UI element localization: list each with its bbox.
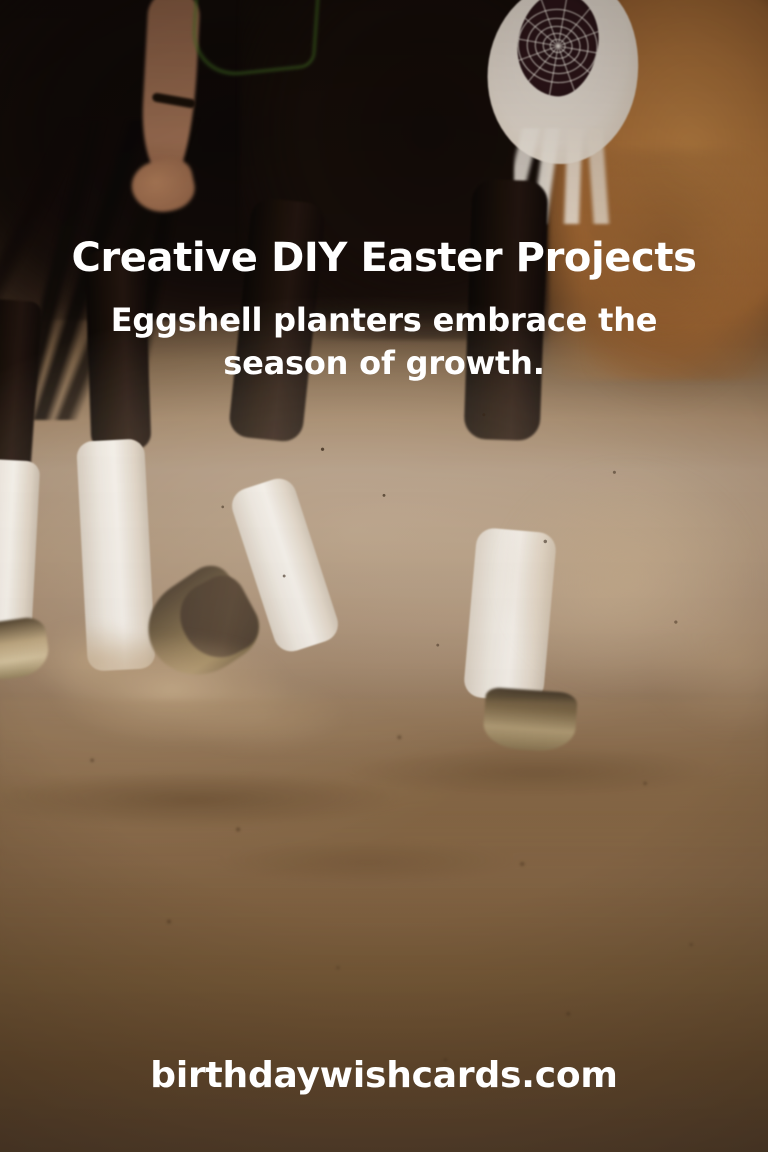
white-dreamcatcher-ornament [480, 0, 670, 208]
pin-headline: Creative DIY Easter Projects [34, 236, 734, 281]
pin-subheadline: Eggshell planters embrace the season of … [84, 299, 684, 386]
arena-ground [0, 0, 768, 1152]
ornament-feather-fringe [514, 128, 646, 224]
dust-cloud-right [430, 430, 768, 760]
background-photo-base [0, 0, 768, 1152]
hoof-center-kicking [130, 557, 270, 695]
rider-bare-foot [127, 154, 198, 218]
ornament-web-opening [510, 0, 607, 102]
green-foliage-accent [620, 58, 706, 154]
polo-wrap-left [76, 438, 156, 671]
rider-bare-leg [139, 0, 201, 181]
warm-color-grade [0, 0, 768, 1152]
green-saddle-pad-accent [189, 0, 321, 80]
vignette-overlay [0, 0, 768, 1152]
polo-wrap-far-left [0, 459, 40, 632]
airborne-dirt-specks [0, 0, 768, 1152]
hoof-center-shadow [168, 568, 268, 671]
text-overlay: Creative DIY Easter Projects Eggshell pl… [0, 236, 768, 386]
polo-wrap-right [463, 527, 558, 703]
dust-haze-layer [0, 0, 768, 1152]
rider-ankle-band [152, 92, 197, 109]
background-photo-subjects [0, 0, 768, 1152]
hoof-far-left [0, 615, 52, 682]
pinterest-pin-card: Creative DIY Easter Projects Eggshell pl… [0, 0, 768, 1152]
polo-wrap-center [227, 474, 342, 656]
dust-clouds [0, 0, 768, 1152]
ornament-body [474, 0, 651, 175]
dust-burst-from-hoof [20, 580, 420, 780]
hoof-right [482, 687, 578, 753]
site-url-watermark: birthdaywishcards.com [0, 1055, 768, 1096]
